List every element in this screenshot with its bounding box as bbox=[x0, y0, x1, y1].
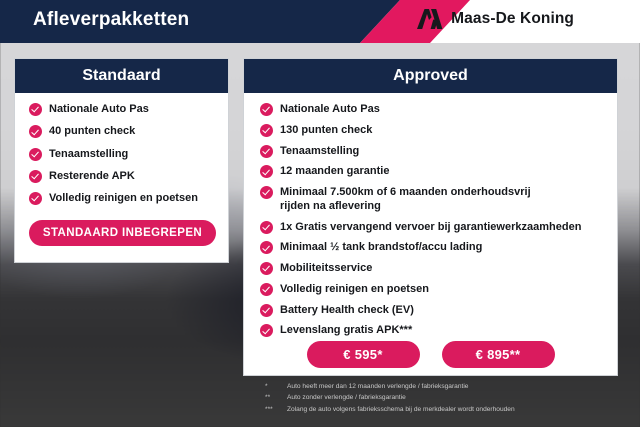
list-item: Tenaamstelling bbox=[29, 148, 228, 162]
list-item: Nationale Auto Pas bbox=[260, 103, 605, 117]
footnote-marker: * bbox=[265, 381, 287, 392]
feature-label: Mobiliteitsservice bbox=[280, 262, 372, 276]
feature-label: Resterende APK bbox=[49, 170, 135, 184]
feature-label: Minimaal 7.500km of 6 maanden onderhouds… bbox=[280, 186, 531, 198]
check-circle-icon bbox=[260, 145, 273, 158]
list-item: Levenslang gratis APK*** bbox=[260, 324, 605, 338]
footnotes-block: * Auto heeft meer dan 12 maanden verleng… bbox=[265, 381, 615, 415]
footnote-row: * Auto heeft meer dan 12 maanden verleng… bbox=[265, 381, 615, 392]
feature-label: Minimaal ½ tank brandstof/accu lading bbox=[280, 241, 482, 255]
check-circle-icon bbox=[260, 324, 273, 337]
check-circle-icon bbox=[260, 283, 273, 296]
list-item: Volledig reinigen en poetsen bbox=[260, 283, 605, 297]
approved-feature-list: Nationale Auto Pas 130 punten check Tena… bbox=[260, 103, 605, 338]
list-item: Tenaamstelling bbox=[260, 145, 605, 159]
brand-name-label: Maas-De Koning bbox=[451, 10, 574, 28]
feature-label: Nationale Auto Pas bbox=[49, 103, 149, 117]
list-item: Resterende APK bbox=[29, 170, 228, 184]
feature-label: Volledig reinigen en poetsen bbox=[49, 192, 198, 206]
feature-label: Battery Health check (EV) bbox=[280, 304, 414, 318]
price-button-895[interactable]: € 895** bbox=[442, 341, 555, 368]
check-circle-icon bbox=[260, 186, 273, 199]
standaard-package-card: Standaard Nationale Auto Pas 40 punten c… bbox=[14, 58, 229, 263]
check-circle-icon bbox=[29, 170, 42, 183]
footnote-text: Auto zonder verlengde / fabrieksgarantie bbox=[287, 392, 615, 403]
brand-logo: Maas-De Koning bbox=[417, 9, 574, 29]
feature-label: Nationale Auto Pas bbox=[280, 103, 380, 117]
check-circle-icon bbox=[260, 304, 273, 317]
check-circle-icon bbox=[260, 221, 273, 234]
feature-label: 130 punten check bbox=[280, 124, 372, 138]
footnote-row: *** Zolang de auto volgens fabrieksschem… bbox=[265, 404, 615, 415]
footnote-marker: ** bbox=[265, 392, 287, 403]
list-item: 12 maanden garantie bbox=[260, 165, 605, 179]
footnote-row: ** Auto zonder verlengde / fabrieksgaran… bbox=[265, 392, 615, 403]
check-circle-icon bbox=[29, 192, 42, 205]
standaard-card-body: Nationale Auto Pas 40 punten check Tenaa… bbox=[15, 93, 228, 206]
list-item: Battery Health check (EV) bbox=[260, 304, 605, 318]
page-title: Afleverpakketten bbox=[33, 9, 189, 31]
check-circle-icon bbox=[260, 103, 273, 116]
price-button-row: € 595* € 895** bbox=[244, 341, 617, 368]
check-circle-icon bbox=[260, 124, 273, 137]
feature-label: Volledig reinigen en poetsen bbox=[280, 283, 429, 297]
price-button-595[interactable]: € 595* bbox=[307, 341, 420, 368]
feature-label: 12 maanden garantie bbox=[280, 165, 389, 179]
feature-label-wrap: rijden na aflevering bbox=[280, 200, 531, 214]
check-circle-icon bbox=[29, 125, 42, 138]
check-circle-icon bbox=[29, 103, 42, 116]
check-circle-icon bbox=[260, 165, 273, 178]
feature-label: Tenaamstelling bbox=[280, 145, 359, 159]
check-circle-icon bbox=[260, 262, 273, 275]
delivery-packages-slide: Afleverpakketten Maas-De Koning Standaar… bbox=[0, 0, 640, 427]
feature-label: Levenslang gratis APK*** bbox=[280, 324, 412, 338]
list-item: 130 punten check bbox=[260, 124, 605, 138]
footnote-text: Zolang de auto volgens fabrieksschema bi… bbox=[287, 404, 615, 415]
footnote-marker: *** bbox=[265, 404, 287, 415]
standaard-inbegrepen-button[interactable]: STANDAARD INBEGREPEN bbox=[29, 220, 216, 246]
list-item: Volledig reinigen en poetsen bbox=[29, 192, 228, 206]
list-item: Minimaal ½ tank brandstof/accu lading bbox=[260, 241, 605, 255]
feature-label-multiline: Minimaal 7.500km of 6 maanden onderhouds… bbox=[280, 186, 531, 214]
list-item: Minimaal 7.500km of 6 maanden onderhouds… bbox=[260, 186, 605, 214]
standaard-feature-list: Nationale Auto Pas 40 punten check Tenaa… bbox=[29, 103, 228, 206]
maas-m-logo-icon bbox=[417, 9, 443, 29]
list-item: 1x Gratis vervangend vervoer bij garanti… bbox=[260, 221, 605, 235]
footnote-text: Auto heeft meer dan 12 maanden verlengde… bbox=[287, 381, 615, 392]
check-circle-icon bbox=[29, 148, 42, 161]
list-item: Nationale Auto Pas bbox=[29, 103, 228, 117]
approved-package-card: Approved Nationale Auto Pas 130 punten c… bbox=[243, 58, 618, 376]
feature-label: 40 punten check bbox=[49, 125, 135, 139]
list-item: Mobiliteitsservice bbox=[260, 262, 605, 276]
list-item: 40 punten check bbox=[29, 125, 228, 139]
feature-label: 1x Gratis vervangend vervoer bij garanti… bbox=[280, 221, 581, 235]
approved-card-body: Nationale Auto Pas 130 punten check Tena… bbox=[244, 93, 617, 338]
header-bar: Afleverpakketten Maas-De Koning bbox=[0, 0, 640, 43]
feature-label: Tenaamstelling bbox=[49, 148, 128, 162]
standaard-card-heading: Standaard bbox=[15, 59, 228, 93]
check-circle-icon bbox=[260, 241, 273, 254]
approved-card-heading: Approved bbox=[244, 59, 617, 93]
